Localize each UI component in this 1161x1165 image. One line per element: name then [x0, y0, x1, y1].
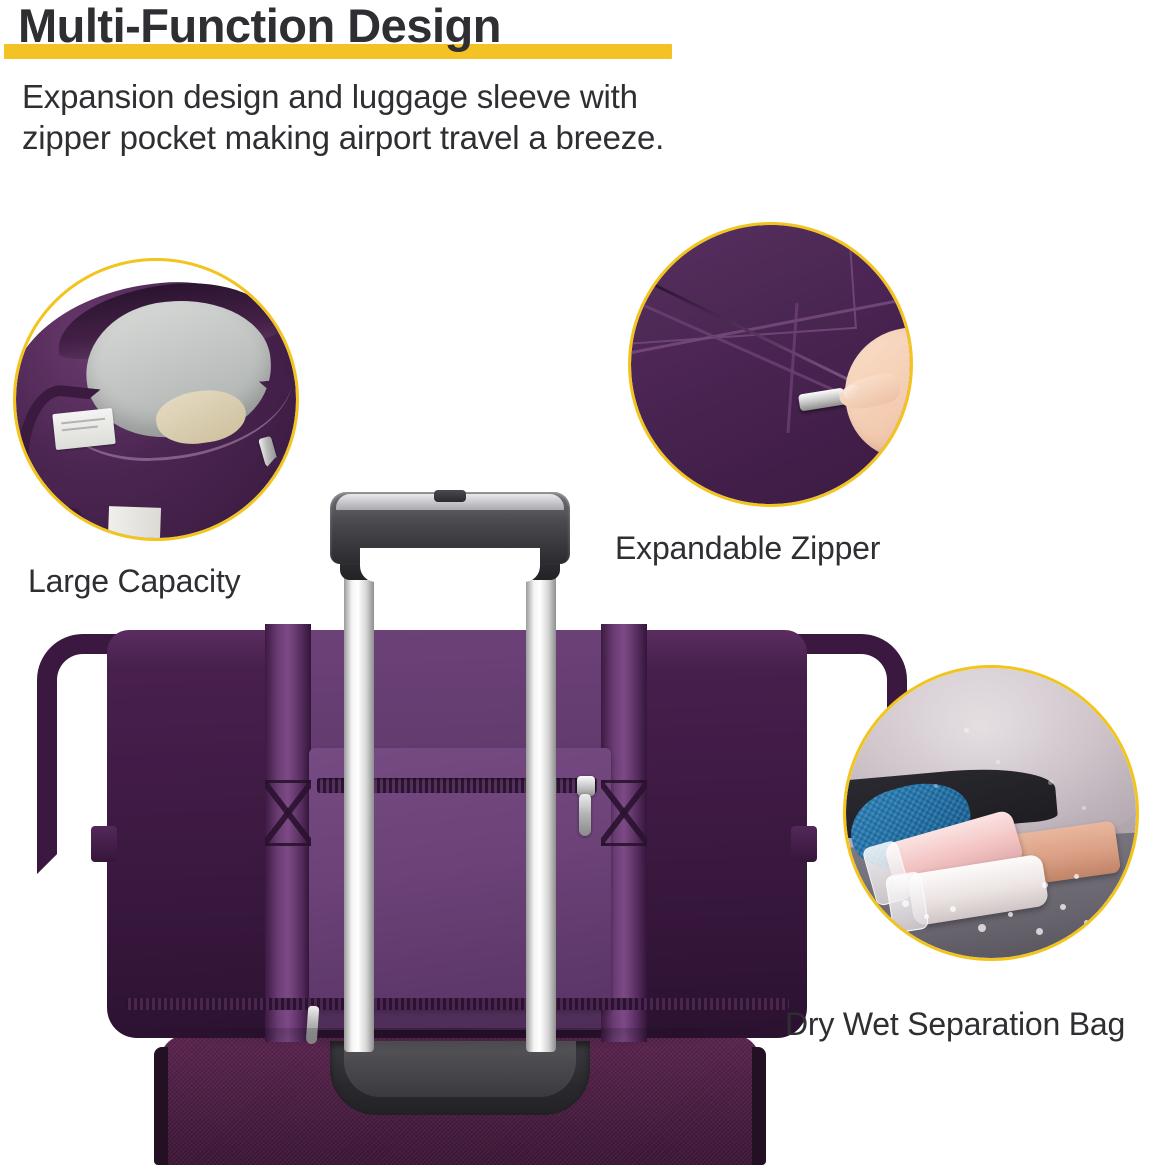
strap-x-stitch-right — [601, 780, 647, 846]
handle-bar-left — [344, 512, 374, 1052]
rolling-suitcase — [160, 1035, 760, 1165]
bag-bottom-trim — [107, 506, 161, 538]
side-tab-right — [791, 826, 817, 862]
page-subtitle: Expansion design and luggage sleeve with… — [22, 76, 664, 159]
handle-release-button-icon — [434, 490, 466, 502]
suitcase-edge-left — [154, 1047, 168, 1165]
callout-image-large-capacity — [13, 258, 299, 541]
suitcase-edge-right — [752, 1047, 766, 1165]
callout-label-expandable-zipper: Expandable Zipper — [615, 530, 880, 567]
handle-bar-right — [526, 512, 556, 1052]
open-bag-handle-right — [259, 377, 296, 470]
page-title-block: Multi-Function Design — [18, 2, 501, 49]
callout-image-expandable-zipper — [628, 222, 913, 507]
bottle-cap-white — [885, 871, 930, 934]
callout-label-large-capacity: Large Capacity — [28, 563, 240, 600]
suitcase-telescoping-handle — [330, 492, 580, 1052]
strap-x-stitch-left — [265, 780, 311, 846]
handle-grip — [330, 492, 570, 564]
callout-image-dry-wet-separation — [843, 665, 1139, 961]
infographic-canvas: Multi-Function Design Expansion design a… — [0, 0, 1161, 1149]
callout-label-dry-wet-separation: Dry Wet Separation Bag — [785, 1006, 1125, 1043]
suitcase-handle-recess — [330, 1041, 590, 1115]
page-title: Multi-Function Design — [18, 2, 501, 49]
brand-label-patch — [52, 408, 115, 450]
side-tab-left — [91, 826, 117, 862]
front-zipper-pull-icon — [579, 794, 591, 836]
